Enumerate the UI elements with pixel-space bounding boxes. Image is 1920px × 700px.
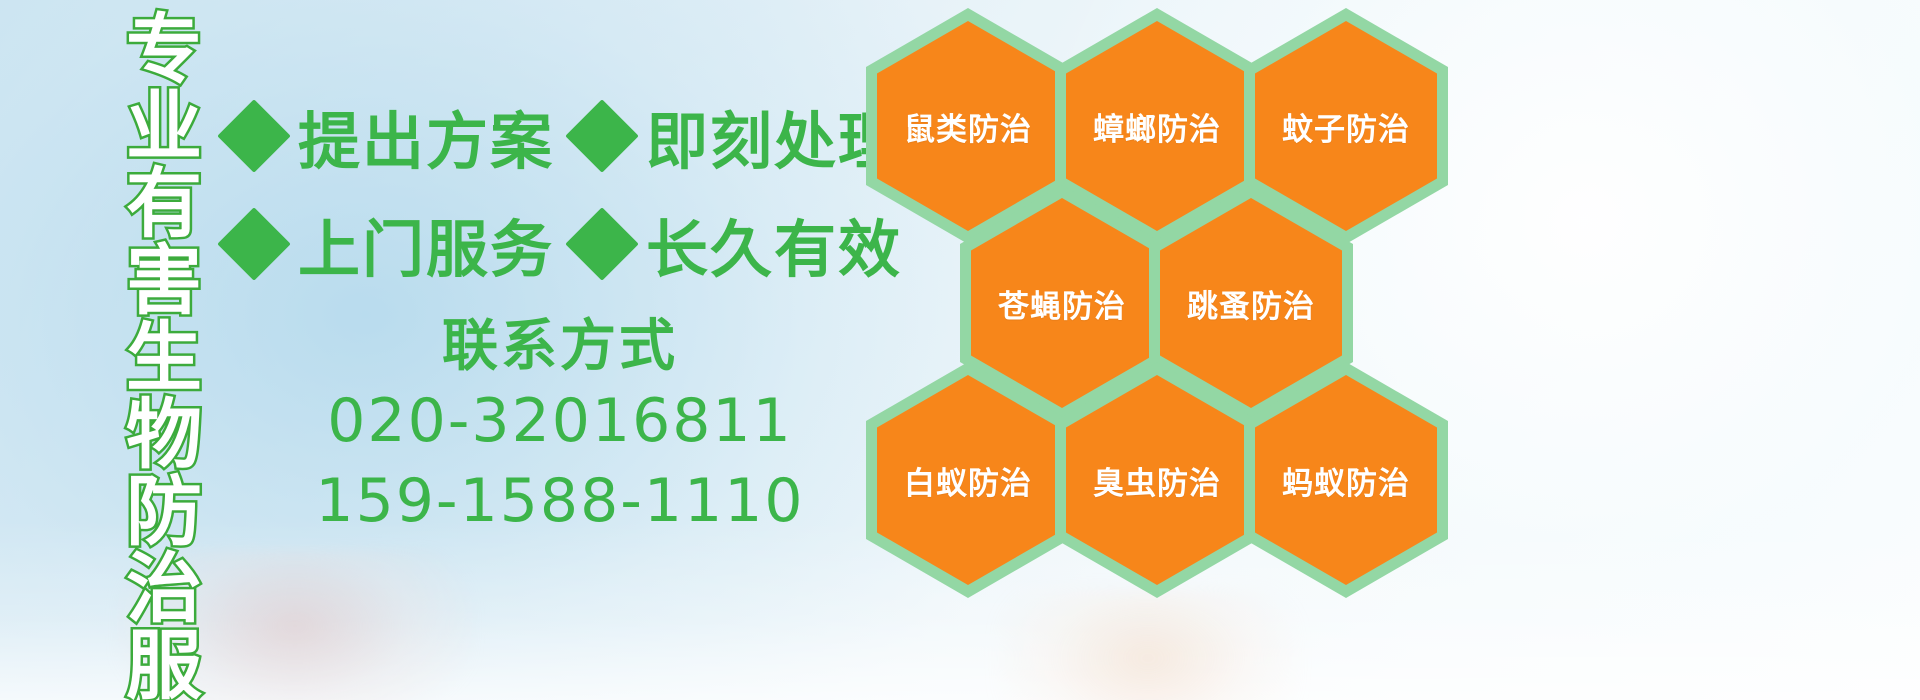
contact-phone-mobile[interactable]: 159-1588-1110 — [300, 462, 820, 542]
hexagon-label: 白蚁防治 — [866, 362, 1070, 598]
diamond-bullet-icon — [217, 207, 291, 281]
vertical-title-char: 专 — [126, 12, 202, 89]
pest-control-banner: 专 业 有 害 生 物 防 治 服 务 提出方案 即刻处理 上门服务 长久有效 … — [0, 0, 1920, 700]
hexagon-service-termite[interactable]: 白蚁防治 — [866, 362, 1070, 598]
diamond-bullet-icon — [565, 99, 639, 173]
service-hexagon-grid: 鼠类防治 蟑螂防治 蚊子防治 苍蝇防治 跳蚤防治 白蚁防治 — [860, 0, 1480, 660]
diamond-bullet-icon — [565, 207, 639, 281]
vertical-title: 专 业 有 害 生 物 防 治 服 务 — [110, 12, 218, 700]
diamond-bullet-icon — [217, 99, 291, 173]
vertical-title-char: 治 — [126, 551, 202, 628]
feature-row: 提出方案 即刻处理 — [228, 82, 868, 190]
hexagon-label: 蚂蚁防治 — [1244, 362, 1448, 598]
vertical-title-char: 害 — [126, 243, 202, 320]
vertical-title-char: 服 — [126, 628, 202, 700]
hexagon-label: 臭虫防治 — [1055, 362, 1259, 598]
feature-row: 上门服务 长久有效 — [228, 190, 868, 298]
vertical-title-char: 有 — [126, 166, 202, 243]
contact-title: 联系方式 — [300, 312, 820, 382]
feature-list: 提出方案 即刻处理 上门服务 长久有效 — [228, 82, 868, 298]
feature-label: 上门服务 — [298, 199, 554, 289]
vertical-title-char: 物 — [126, 397, 202, 474]
vertical-title-char: 生 — [126, 320, 202, 397]
vertical-title-char: 业 — [126, 89, 202, 166]
feature-label: 提出方案 — [298, 91, 554, 181]
hexagon-service-bedbug[interactable]: 臭虫防治 — [1055, 362, 1259, 598]
contact-block: 联系方式 020-32016811 159-1588-1110 — [300, 312, 820, 542]
vertical-title-char: 防 — [126, 474, 202, 551]
hexagon-service-ant[interactable]: 蚂蚁防治 — [1244, 362, 1448, 598]
contact-phone-landline[interactable]: 020-32016811 — [300, 382, 820, 462]
